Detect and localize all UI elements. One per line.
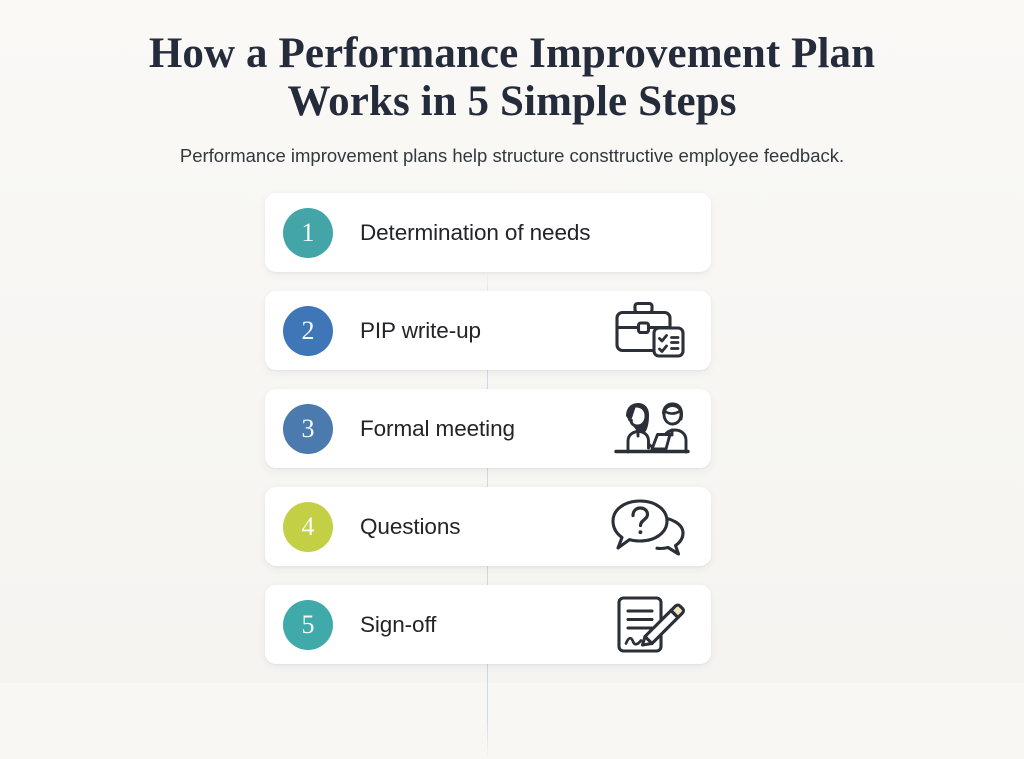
step-card-4[interactable]: 4 Questions <box>265 487 711 566</box>
step-label-4: Questions <box>360 514 607 540</box>
step-card-1[interactable]: 1 Determination of needs <box>265 193 711 272</box>
step-label-5: Sign-off <box>360 612 607 638</box>
step-number-4: 4 <box>302 514 315 540</box>
step-number-badge-3: 3 <box>283 404 333 454</box>
briefcase-checklist-icon <box>607 299 693 363</box>
step-label-2: PIP write-up <box>360 318 607 344</box>
step-card-2[interactable]: 2 PIP write-up <box>265 291 711 370</box>
step-number-5: 5 <box>302 612 315 638</box>
page-title: How a Performance Improvement Plan Works… <box>0 30 1024 126</box>
step-number-badge-4: 4 <box>283 502 333 552</box>
question-speech-bubbles-icon <box>607 495 693 559</box>
step-number-2: 2 <box>302 318 315 344</box>
document-signature-pen-icon <box>607 593 693 657</box>
step-card-3[interactable]: 3 Formal meeting <box>265 389 711 468</box>
steps-list: 1 Determination of needs 2 PIP write-up <box>265 193 711 664</box>
infographic-page: How a Performance Improvement Plan Works… <box>0 0 1024 683</box>
step-number-3: 3 <box>302 416 315 442</box>
header: How a Performance Improvement Plan Works… <box>0 30 1024 168</box>
step-card-5[interactable]: 5 Sign-off <box>265 585 711 664</box>
step-number-1: 1 <box>302 220 315 246</box>
page-subtitle: Performance improvement plans help struc… <box>0 144 1024 168</box>
step-number-badge-1: 1 <box>283 208 333 258</box>
step-label-1: Determination of needs <box>360 220 607 246</box>
step-icon-slot-1 <box>607 201 693 265</box>
two-people-meeting-icon <box>607 397 693 461</box>
step-number-badge-5: 5 <box>283 600 333 650</box>
step-label-3: Formal meeting <box>360 416 607 442</box>
step-number-badge-2: 2 <box>283 306 333 356</box>
